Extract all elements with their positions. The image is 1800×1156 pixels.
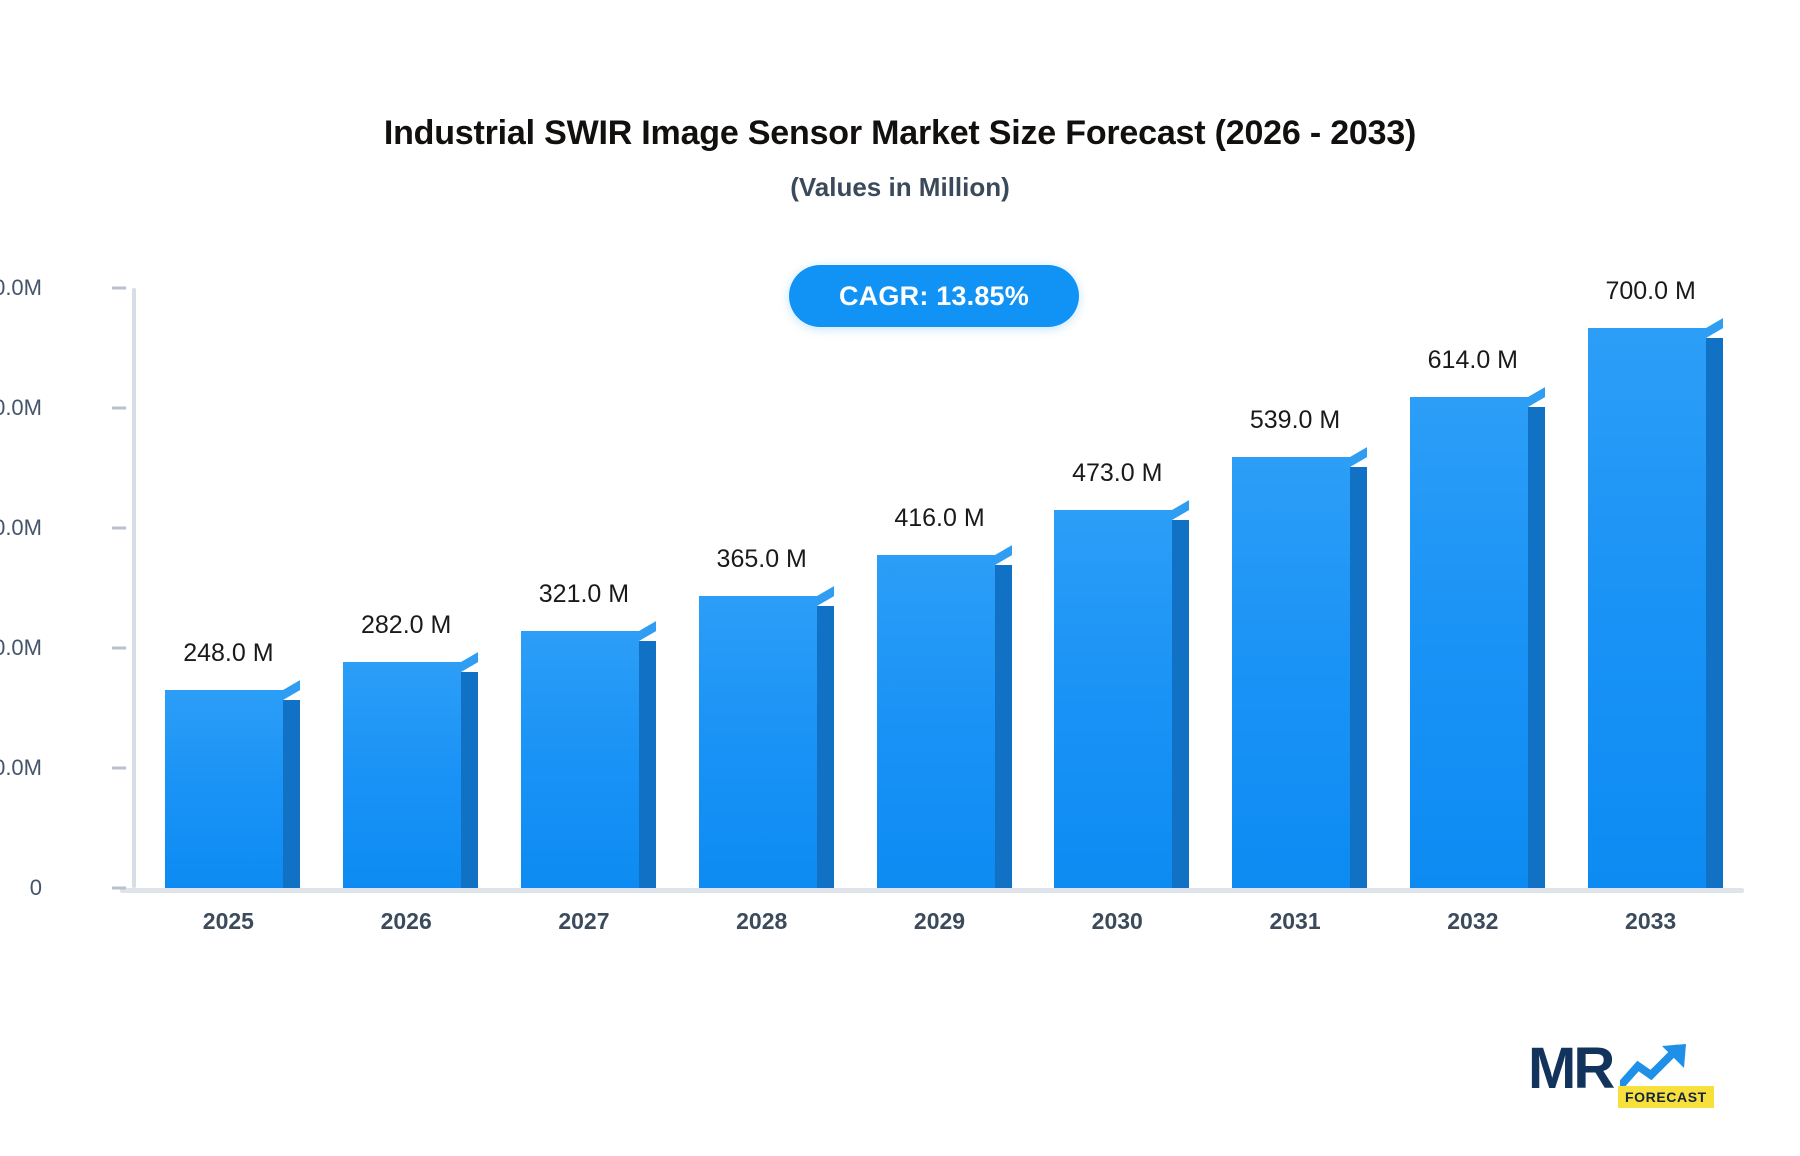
- y-axis-tick-label: 150.0M: [0, 755, 42, 781]
- bar-front-face: [1054, 510, 1172, 888]
- bar-value-label: 700.0 M: [1605, 277, 1695, 306]
- y-axis-tick-mark: [112, 287, 126, 290]
- chart-subtitle: (Values in Million): [0, 172, 1800, 203]
- y-axis-line: [132, 288, 136, 888]
- bar-top-face: [995, 545, 1012, 565]
- bar: [699, 596, 834, 888]
- bar: [1054, 510, 1189, 888]
- bar-front-face: [521, 631, 639, 888]
- plot-area: 0150.0M300.0M450.0M600.0M750.0M 248.0 M2…: [132, 288, 1732, 888]
- bar-front-face: [343, 662, 461, 888]
- bar-value-label: 473.0 M: [1072, 459, 1162, 488]
- chart-title: Industrial SWIR Image Sensor Market Size…: [0, 114, 1800, 153]
- bar-top-face: [1706, 318, 1723, 338]
- bar-side-face: [1172, 520, 1189, 888]
- y-axis-tick-mark: [112, 767, 126, 770]
- chart-page: Industrial SWIR Image Sensor Market Size…: [0, 0, 1800, 1156]
- bar-top-face: [1350, 447, 1367, 467]
- bar-side-face: [461, 672, 478, 888]
- x-axis-tick-label: 2026: [381, 908, 432, 935]
- bar: [1232, 457, 1367, 888]
- bar-front-face: [699, 596, 817, 888]
- bar-side-face: [1706, 338, 1723, 888]
- x-axis-tick-label: 2027: [558, 908, 609, 935]
- x-axis-tick-label: 2033: [1625, 908, 1676, 935]
- bar: [343, 662, 478, 888]
- bar: [521, 631, 656, 888]
- x-axis-tick-label: 2025: [203, 908, 254, 935]
- bar-value-label: 539.0 M: [1250, 406, 1340, 435]
- bar: [877, 555, 1012, 888]
- bar-value-label: 248.0 M: [183, 639, 273, 668]
- bar-front-face: [1588, 328, 1706, 888]
- bar-side-face: [995, 565, 1012, 888]
- bar-value-label: 321.0 M: [539, 580, 629, 609]
- y-axis-tick-label: 750.0M: [0, 275, 42, 301]
- y-axis-tick-mark: [112, 887, 126, 890]
- bar: [165, 690, 300, 888]
- y-axis-tick-label: 0: [0, 875, 42, 901]
- bar-top-face: [283, 680, 300, 700]
- y-axis-tick-mark: [112, 527, 126, 530]
- bar-top-face: [639, 621, 656, 641]
- bar-front-face: [1410, 397, 1528, 888]
- x-axis-tick-label: 2031: [1269, 908, 1320, 935]
- y-axis-tick-label: 450.0M: [0, 515, 42, 541]
- logo-forecast-badge: FORECAST: [1618, 1086, 1714, 1108]
- bar-top-face: [817, 586, 834, 606]
- x-axis-line: [120, 888, 1744, 893]
- bar-value-label: 282.0 M: [361, 611, 451, 640]
- bar-side-face: [283, 700, 300, 888]
- bar: [1588, 328, 1723, 888]
- bar-value-label: 416.0 M: [894, 504, 984, 533]
- bar: [1410, 397, 1545, 888]
- bar-top-face: [461, 653, 478, 673]
- bar-front-face: [877, 555, 995, 888]
- y-axis-tick-mark: [112, 647, 126, 650]
- bar-side-face: [1350, 467, 1367, 888]
- x-axis-tick-label: 2029: [914, 908, 965, 935]
- bar-top-face: [1528, 387, 1545, 407]
- bar-value-label: 365.0 M: [717, 545, 807, 574]
- bar-front-face: [1232, 457, 1350, 888]
- x-axis-tick-label: 2032: [1447, 908, 1498, 935]
- y-axis-tick-label: 600.0M: [0, 395, 42, 421]
- logo-wordmark: MR: [1528, 1040, 1612, 1098]
- bar-side-face: [1528, 407, 1545, 888]
- bar-front-face: [165, 690, 283, 888]
- mr-forecast-logo: MR FORECAST: [1528, 1032, 1692, 1120]
- bar-side-face: [639, 641, 656, 888]
- bar-side-face: [817, 606, 834, 888]
- y-axis-tick-label: 300.0M: [0, 635, 42, 661]
- x-axis-tick-label: 2028: [736, 908, 787, 935]
- bar-value-label: 614.0 M: [1428, 346, 1518, 375]
- x-axis-tick-label: 2030: [1092, 908, 1143, 935]
- bar-top-face: [1172, 500, 1189, 520]
- y-axis-tick-mark: [112, 407, 126, 410]
